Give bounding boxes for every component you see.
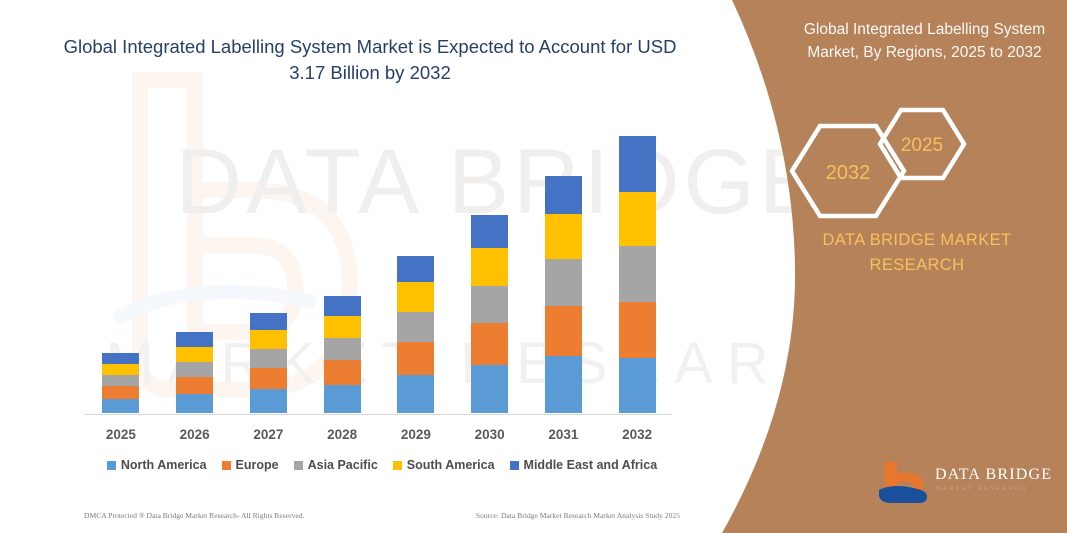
- logo-tagline-text: MARKET RESEARCH: [936, 486, 1028, 492]
- legend-item[interactable]: Asia Pacific: [294, 458, 378, 472]
- bar-segment[interactable]: [397, 375, 434, 413]
- bar-segment[interactable]: [102, 399, 139, 413]
- bar-segment[interactable]: [102, 353, 139, 364]
- right-panel-content: Global Integrated Labelling System Marke…: [667, 0, 1067, 533]
- bar-segment[interactable]: [471, 248, 508, 286]
- brand-line-1: DATA BRIDGE MARKET: [777, 228, 1057, 253]
- x-axis-label-2027: 2027: [238, 427, 298, 442]
- bar-segment[interactable]: [324, 296, 361, 316]
- footer: DMCA Protected ® Data Bridge Market Rese…: [84, 508, 684, 522]
- x-axis-label-2032: 2032: [607, 427, 667, 442]
- bar-segment[interactable]: [250, 349, 287, 368]
- bar-segment[interactable]: [176, 394, 213, 413]
- x-axis-label-2028: 2028: [312, 427, 372, 442]
- bar-segment[interactable]: [250, 368, 287, 389]
- x-axis-label-2029: 2029: [386, 427, 446, 442]
- legend-swatch-icon: [510, 461, 519, 470]
- bar-segment[interactable]: [102, 386, 139, 399]
- footer-dmca-text: DMCA Protected ® Data Bridge Market Rese…: [84, 511, 304, 520]
- bar-segment[interactable]: [619, 302, 656, 358]
- brand-name: DATA BRIDGE MARKET RESEARCH: [777, 228, 1057, 278]
- bar-segment[interactable]: [102, 364, 139, 375]
- legend-label: South America: [407, 458, 495, 472]
- bar-segment[interactable]: [324, 338, 361, 360]
- bar-2032[interactable]: [619, 136, 656, 413]
- brand-line-2: RESEARCH: [777, 253, 1057, 278]
- bar-segment[interactable]: [324, 360, 361, 385]
- bar-segment[interactable]: [397, 256, 434, 282]
- x-axis-label-2026: 2026: [165, 427, 225, 442]
- bar-2026[interactable]: [176, 332, 213, 413]
- bar-segment[interactable]: [619, 136, 656, 192]
- legend-item[interactable]: Europe: [222, 458, 279, 472]
- logo-name-text: DATA BRIDGE: [935, 466, 1052, 484]
- bar-segment[interactable]: [545, 259, 582, 306]
- legend-item[interactable]: South America: [393, 458, 495, 472]
- bar-segment[interactable]: [250, 313, 287, 330]
- bar-segment[interactable]: [324, 385, 361, 413]
- right-panel-title: Global Integrated Labelling System Marke…: [787, 18, 1062, 64]
- right-panel: Global Integrated Labelling System Marke…: [667, 0, 1067, 533]
- legend-label: Asia Pacific: [308, 458, 378, 472]
- bar-segment[interactable]: [619, 246, 656, 302]
- bar-segment[interactable]: [397, 342, 434, 375]
- legend-swatch-icon: [393, 461, 402, 470]
- hexagon-small-label: 2025: [901, 135, 943, 156]
- bar-segment[interactable]: [619, 192, 656, 246]
- bar-2030[interactable]: [471, 215, 508, 413]
- legend-label: Middle East and Africa: [524, 458, 658, 472]
- logo-mark-icon: [877, 460, 933, 506]
- bar-segment[interactable]: [324, 316, 361, 338]
- hexagon-group: 2032 2025: [772, 96, 1062, 226]
- bar-segment[interactable]: [619, 358, 656, 413]
- bar-segment[interactable]: [176, 332, 213, 347]
- legend-swatch-icon: [294, 461, 303, 470]
- legend-swatch-icon: [222, 461, 231, 470]
- bar-segment[interactable]: [471, 286, 508, 323]
- bar-segment[interactable]: [176, 362, 213, 377]
- bar-segment[interactable]: [250, 389, 287, 413]
- x-axis-label-2030: 2030: [460, 427, 520, 442]
- page-title: Global Integrated Labelling System Marke…: [60, 34, 680, 86]
- hexagon-svg: 2032 2025: [772, 96, 1062, 226]
- bar-series-container: [84, 120, 674, 413]
- bar-segment[interactable]: [471, 365, 508, 413]
- legend-item[interactable]: Middle East and Africa: [510, 458, 658, 472]
- bar-segment[interactable]: [545, 306, 582, 356]
- company-logo: DATA BRIDGE MARKET RESEARCH: [877, 460, 1057, 510]
- bar-segment[interactable]: [471, 323, 508, 365]
- legend-item[interactable]: North America: [107, 458, 207, 472]
- chart-legend: North AmericaEuropeAsia PacificSouth Ame…: [84, 455, 680, 475]
- bar-2027[interactable]: [250, 313, 287, 413]
- bar-segment[interactable]: [102, 375, 139, 386]
- bar-segment[interactable]: [397, 312, 434, 342]
- bar-segment[interactable]: [545, 176, 582, 214]
- bar-segment[interactable]: [397, 282, 434, 312]
- bar-segment[interactable]: [545, 356, 582, 413]
- bar-chart: [84, 120, 674, 415]
- bar-segment[interactable]: [545, 214, 582, 259]
- hexagon-large-label: 2032: [826, 162, 871, 184]
- x-axis-label-2031: 2031: [533, 427, 593, 442]
- legend-swatch-icon: [107, 461, 116, 470]
- bar-segment[interactable]: [250, 330, 287, 349]
- legend-label: North America: [121, 458, 207, 472]
- legend-label: Europe: [236, 458, 279, 472]
- x-axis-line: [84, 414, 672, 415]
- bar-segment[interactable]: [176, 377, 213, 394]
- bar-2029[interactable]: [397, 256, 434, 413]
- footer-source-text: Source: Data Bridge Market Research Mark…: [476, 511, 684, 520]
- infographic-root: DATA BRIDGE MARKET RESEARCH Global Integ…: [0, 0, 1067, 533]
- x-axis-label-2025: 2025: [91, 427, 151, 442]
- bar-2028[interactable]: [324, 296, 361, 413]
- bar-segment[interactable]: [176, 347, 213, 362]
- bar-2025[interactable]: [102, 353, 139, 413]
- bar-2031[interactable]: [545, 176, 582, 413]
- bar-segment[interactable]: [471, 215, 508, 248]
- x-axis-labels: 20252026202720282029203020312032: [84, 422, 674, 446]
